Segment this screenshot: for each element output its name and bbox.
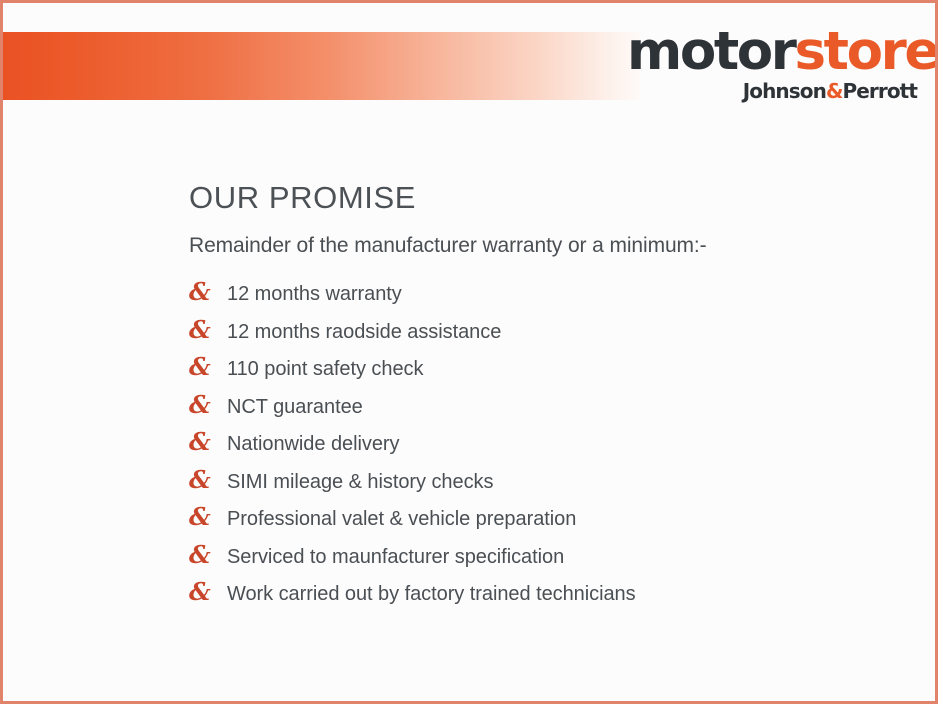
- list-item-label: Professional valet & vehicle preparation: [227, 507, 576, 531]
- list-item-label: Work carried out by factory trained tech…: [227, 582, 636, 606]
- list-item-label: 12 months raodside assistance: [227, 320, 501, 344]
- logo-word-motor: motor: [627, 21, 795, 82]
- ampersand-bullet-icon: &: [189, 318, 227, 342]
- list-item: & 12 months raodside assistance: [189, 318, 889, 356]
- ampersand-bullet-icon: &: [189, 505, 227, 529]
- list-item: & 12 months warranty: [189, 280, 889, 318]
- promise-subtitle: Remainder of the manufacturer warranty o…: [189, 233, 889, 258]
- page-title: OUR PROMISE: [189, 181, 889, 215]
- list-item: & Serviced to maunfacturer specification: [189, 543, 889, 581]
- ampersand-bullet-icon: &: [189, 430, 227, 454]
- list-item: & Professional valet & vehicle preparati…: [189, 505, 889, 543]
- list-item: & 110 point safety check: [189, 355, 889, 393]
- logo-tagline-perrott: Perrott: [842, 79, 917, 103]
- ampersand-bullet-icon: &: [189, 580, 227, 604]
- logo-wordmark: motorstore: [627, 25, 917, 78]
- ampersand-bullet-icon: &: [189, 393, 227, 417]
- logo-word-store: store: [795, 21, 938, 82]
- logo-tagline-johnson: Johnson: [743, 79, 826, 103]
- promise-slide: motorstore Johnson&Perrott OUR PROMISE R…: [0, 0, 938, 704]
- content-area: OUR PROMISE Remainder of the manufacture…: [189, 181, 889, 618]
- list-item: & NCT guarantee: [189, 393, 889, 431]
- list-item: & Work carried out by factory trained te…: [189, 580, 889, 618]
- motorstore-logo: motorstore Johnson&Perrott: [627, 25, 917, 101]
- list-item-label: Nationwide delivery: [227, 432, 399, 456]
- list-item: & Nationwide delivery: [189, 430, 889, 468]
- list-item: & SIMI mileage & history checks: [189, 468, 889, 506]
- list-item-label: Serviced to maunfacturer specification: [227, 545, 564, 569]
- list-item-label: 110 point safety check: [227, 357, 423, 381]
- list-item-label: NCT guarantee: [227, 395, 363, 419]
- list-item-label: 12 months warranty: [227, 282, 402, 306]
- logo-tagline-ampersand: &: [826, 79, 843, 103]
- logo-tagline: Johnson&Perrott: [627, 81, 917, 101]
- ampersand-bullet-icon: &: [189, 355, 227, 379]
- ampersand-bullet-icon: &: [189, 280, 227, 304]
- ampersand-bullet-icon: &: [189, 468, 227, 492]
- ampersand-bullet-icon: &: [189, 543, 227, 567]
- header-gradient-band: [3, 32, 640, 100]
- list-item-label: SIMI mileage & history checks: [227, 470, 493, 494]
- promise-list: & 12 months warranty & 12 months raodsid…: [189, 280, 889, 618]
